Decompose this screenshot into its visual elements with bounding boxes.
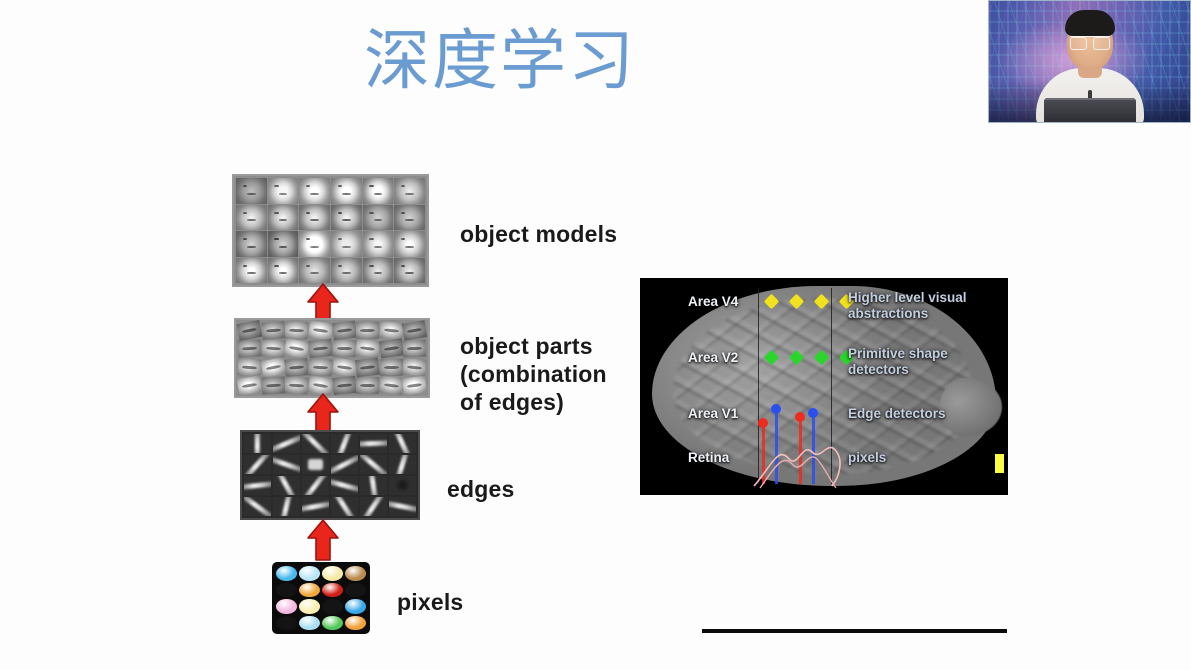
object-models-label: object models xyxy=(460,220,617,248)
brain-retina-description: pixels xyxy=(848,450,886,466)
v4-node xyxy=(789,294,805,310)
edge-filter-cell xyxy=(360,434,387,453)
v1-node xyxy=(758,418,768,428)
edge-filter-cell xyxy=(331,434,358,453)
edge-filter-cell xyxy=(302,476,329,495)
edges-grid xyxy=(240,430,420,520)
object-model-cell xyxy=(363,231,394,257)
presenter-glasses xyxy=(1070,36,1110,48)
brain-v4-description: Higher level visual abstractions xyxy=(848,290,967,322)
edge-filter-cell xyxy=(273,497,300,516)
edge-filter-cell xyxy=(331,497,358,516)
object-model-cell xyxy=(268,258,299,284)
object-part-cell xyxy=(355,357,380,377)
pixels-label: pixels xyxy=(397,588,463,616)
edge-filter-cell xyxy=(389,434,416,453)
retina-signal-curves-icon xyxy=(752,428,848,490)
object-model-cell xyxy=(236,258,267,284)
brain-retina-label: Retina xyxy=(688,450,729,465)
bottom-divider xyxy=(702,629,1007,633)
object-part-cell xyxy=(261,376,284,394)
object-model-cell xyxy=(268,178,299,204)
object-part-cell xyxy=(355,339,380,359)
yellow-marker xyxy=(995,454,1004,473)
edge-filter-cell xyxy=(331,455,358,474)
edge-filter-cell xyxy=(244,497,271,516)
edge-filter-cell xyxy=(302,455,329,474)
object-part-cell xyxy=(332,340,355,358)
v4-node-row xyxy=(766,296,852,307)
deep-learning-hierarchy-diagram: object models object parts (combination … xyxy=(0,130,640,670)
edge-filter-cell xyxy=(360,455,387,474)
object-model-cell xyxy=(236,178,267,204)
v1-node xyxy=(808,408,818,418)
object-part-cell xyxy=(379,339,404,359)
brain-area-v4-label: Area V4 xyxy=(688,294,738,309)
object-part-cell xyxy=(237,375,262,396)
object-model-cell xyxy=(331,205,362,231)
object-part-cell xyxy=(403,340,426,358)
object-model-cell xyxy=(363,258,394,284)
object-part-cell xyxy=(284,338,309,359)
edge-filter-cell xyxy=(389,455,416,474)
pixel-cell xyxy=(276,583,297,598)
object-model-cell xyxy=(299,258,330,284)
object-model-cell xyxy=(236,205,267,231)
pixels-grid xyxy=(272,562,370,634)
v2-node xyxy=(814,350,830,366)
visual-cortex-hierarchy-image: Area V4 Area V2 Area V1 Retina Higher le… xyxy=(640,278,1008,495)
edge-filter-cell xyxy=(360,476,387,495)
object-part-cell xyxy=(237,320,262,341)
object-part-cell xyxy=(237,358,261,377)
edge-filter-cell xyxy=(302,434,329,453)
object-part-cell xyxy=(402,375,427,395)
pixel-cell xyxy=(345,599,366,614)
edge-filter-cell xyxy=(273,434,300,453)
pixel-cell xyxy=(299,583,320,598)
brain-v1-description: Edge detectors xyxy=(848,406,946,422)
object-model-cell xyxy=(394,231,425,257)
object-part-cell xyxy=(379,321,403,340)
presenter-hair xyxy=(1065,10,1115,36)
v2-node xyxy=(789,350,805,366)
object-part-cell xyxy=(308,320,333,340)
object-part-cell xyxy=(261,321,285,340)
pixel-cell xyxy=(322,583,343,598)
presenter-figure xyxy=(989,1,1190,122)
object-model-cell xyxy=(268,231,299,257)
pixel-cell xyxy=(299,599,320,614)
presenter-webcam[interactable] xyxy=(988,0,1191,123)
edges-label: edges xyxy=(447,475,514,503)
object-model-cell xyxy=(331,231,362,257)
v1-node xyxy=(795,412,805,422)
brain-v2-description: Primitive shape detectors xyxy=(848,346,948,378)
object-model-cell xyxy=(363,205,394,231)
pixel-cell xyxy=(299,566,320,581)
pixel-cell xyxy=(276,599,297,614)
object-part-cell xyxy=(260,357,285,378)
object-part-cell xyxy=(380,358,403,375)
v4-node xyxy=(764,294,780,310)
brain-area-v1-label: Area V1 xyxy=(688,406,738,421)
pixel-cell xyxy=(322,616,343,631)
object-part-cell xyxy=(332,321,357,341)
object-model-cell xyxy=(299,231,330,257)
object-part-cell xyxy=(356,377,379,395)
pixel-cell xyxy=(345,616,366,631)
object-parts-grid xyxy=(234,318,430,398)
v4-node xyxy=(814,294,830,310)
v2-node xyxy=(764,350,780,366)
object-parts-label: object parts (combination of edges) xyxy=(460,332,607,416)
object-part-cell xyxy=(379,375,404,395)
brain-area-v2-label: Area V2 xyxy=(688,350,738,365)
pixel-cell xyxy=(276,616,297,631)
object-model-cell xyxy=(268,205,299,231)
edge-filter-cell xyxy=(273,476,300,495)
arrow-pixels-to-edges-icon xyxy=(306,518,340,562)
object-model-cell xyxy=(299,205,330,231)
object-model-cell xyxy=(331,178,362,204)
object-models-grid xyxy=(232,174,429,287)
object-model-cell xyxy=(394,205,425,231)
presenter-laptop xyxy=(1044,98,1136,122)
object-part-cell xyxy=(285,322,308,340)
edge-filter-cell xyxy=(273,455,300,474)
object-model-cell xyxy=(363,178,394,204)
pixel-cell xyxy=(276,566,297,581)
pixel-cell xyxy=(322,599,343,614)
object-model-cell xyxy=(236,231,267,257)
pixel-cell xyxy=(345,566,366,581)
object-model-cell xyxy=(394,178,425,204)
edge-filter-cell xyxy=(244,434,271,453)
v2-node-row xyxy=(766,352,852,363)
v1-node xyxy=(771,404,781,414)
pixel-cell xyxy=(345,583,366,598)
object-part-cell xyxy=(238,340,262,358)
edge-filter-cell xyxy=(331,476,358,495)
pixel-cell xyxy=(322,566,343,581)
object-part-cell xyxy=(285,358,309,377)
object-model-cell xyxy=(394,258,425,284)
page-title: 深度学习 xyxy=(0,26,1000,95)
pixel-cell xyxy=(299,616,320,631)
object-part-cell xyxy=(402,320,427,341)
object-part-cell xyxy=(356,322,379,339)
object-part-cell xyxy=(285,376,309,395)
object-model-cell xyxy=(299,178,330,204)
edge-filter-cell xyxy=(389,497,416,516)
edge-filter-cell xyxy=(244,476,271,495)
object-part-cell xyxy=(309,358,332,376)
object-part-cell xyxy=(308,339,332,358)
object-part-cell xyxy=(331,357,356,377)
object-model-cell xyxy=(331,258,362,284)
object-part-cell xyxy=(403,357,427,376)
edge-filter-cell xyxy=(302,497,329,516)
edge-filter-cell xyxy=(389,476,416,495)
edge-filter-cell xyxy=(360,497,387,516)
edge-filter-cell xyxy=(244,455,271,474)
object-part-cell xyxy=(261,340,285,359)
